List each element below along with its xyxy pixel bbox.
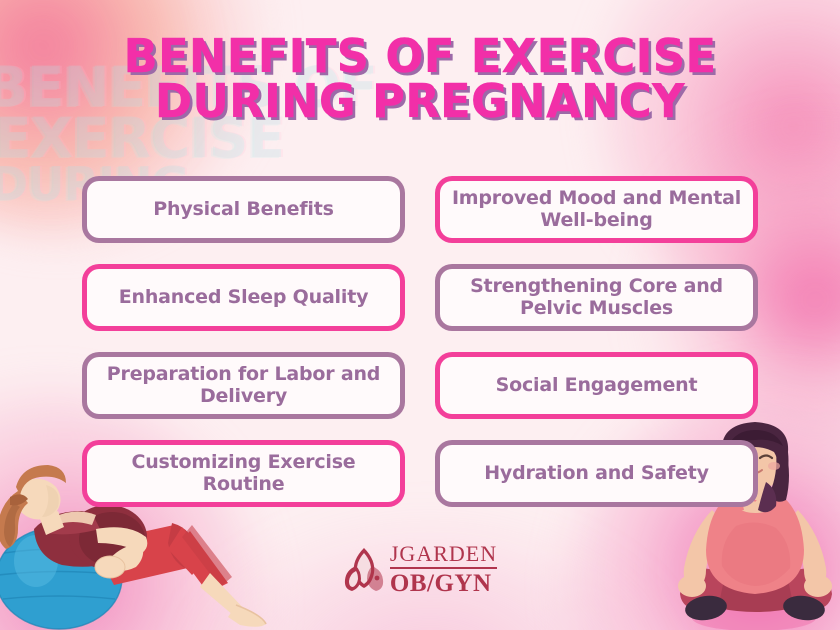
logo-wordmark: JGARDEN OB/GYN [390,543,497,596]
logo-top-text: JGARDEN [390,543,497,569]
benefit-card-label: Hydration and Safety [484,463,709,484]
benefit-card-inner: Physical Benefits [87,181,400,238]
benefit-card-label: Improved Mood and Mental Well-being [450,188,743,231]
benefits-card-grid: Physical BenefitsImproved Mood and Menta… [82,176,758,507]
benefit-card[interactable]: Preparation for Labor and Delivery [82,352,405,419]
benefit-card[interactable]: Improved Mood and Mental Well-being [435,176,758,243]
benefit-card-inner: Improved Mood and Mental Well-being [440,181,753,238]
poster-title: BENEFITS OF EXERCISE DURING PREGNANCY [0,34,840,124]
benefit-card[interactable]: Enhanced Sleep Quality [82,264,405,331]
benefit-card[interactable]: Hydration and Safety [435,440,758,507]
benefit-card-label: Strengthening Core and Pelvic Muscles [450,276,743,319]
butterfly-flower-icon [343,544,387,596]
clinic-logo: JGARDEN OB/GYN [0,543,840,596]
benefit-card-inner: Strengthening Core and Pelvic Muscles [440,269,753,326]
benefit-card-label: Preparation for Labor and Delivery [97,364,390,407]
benefit-card-inner: Enhanced Sleep Quality [87,269,400,326]
benefit-card-inner: Customizing Exercise Routine [87,445,400,502]
benefit-card-inner: Preparation for Labor and Delivery [87,357,400,414]
title-line-1: BENEFITS OF EXERCISE [13,34,828,79]
benefit-card-inner: Hydration and Safety [440,445,753,502]
infographic-poster: BENEFITS OF EXERCISE DURING... BENEFITS … [0,0,840,630]
benefit-card[interactable]: Customizing Exercise Routine [82,440,405,507]
benefit-card-label: Physical Benefits [153,199,333,220]
benefit-card-label: Customizing Exercise Routine [97,452,390,495]
benefit-card-label: Enhanced Sleep Quality [119,287,369,308]
benefit-card[interactable]: Physical Benefits [82,176,405,243]
benefit-card[interactable]: Social Engagement [435,352,758,419]
benefit-card[interactable]: Strengthening Core and Pelvic Muscles [435,264,758,331]
logo-bottom-text: OB/GYN [390,571,492,596]
benefit-card-inner: Social Engagement [440,357,753,414]
benefit-card-label: Social Engagement [496,375,698,396]
title-line-2: DURING PREGNANCY [13,79,828,124]
